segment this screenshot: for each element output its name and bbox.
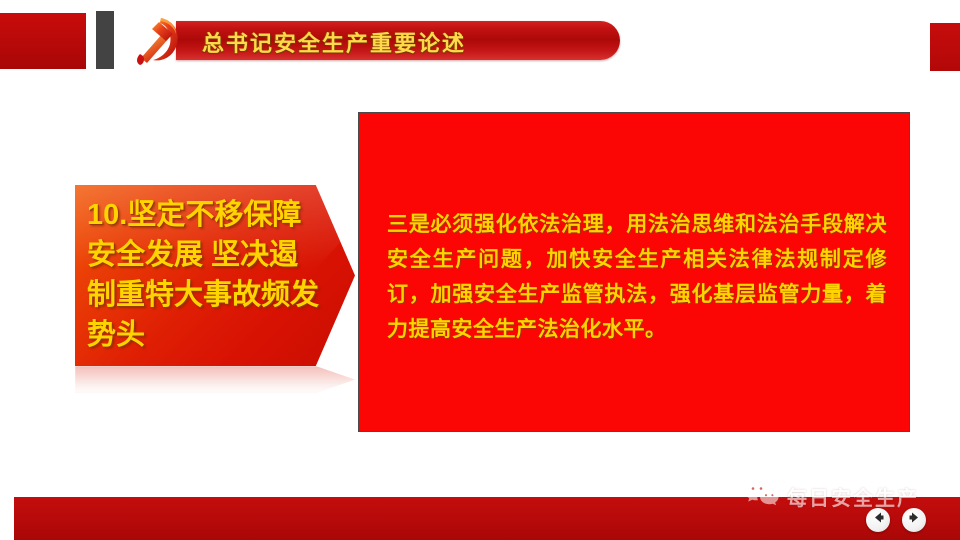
- footer-red-band: [0, 497, 960, 540]
- header-banner-title: 总书记安全生产重要论述: [202, 26, 466, 58]
- header-right-red-block: [930, 23, 960, 71]
- arrow-right-icon: [908, 511, 921, 529]
- header-left-red-block: [0, 13, 86, 69]
- party-emblem-hammer-sickle-icon: [131, 14, 185, 66]
- slide-canvas: 总书记安全生产重要论述 10.坚定不移保障安全发展 坚决遏制重特大事故频发势头 …: [0, 0, 960, 540]
- content-body-text: 三是必须强化依法治理，用法治思维和法治手段解决安全生产问题，加快安全生产相关法律…: [387, 207, 887, 347]
- slide-navigation: [866, 508, 926, 532]
- next-slide-button[interactable]: [902, 508, 926, 532]
- footer-left-notch: [0, 497, 14, 540]
- header-gray-divider-bar: [96, 11, 114, 69]
- section-title-reflection: [75, 366, 355, 406]
- section-title-arrow-box: 10.坚定不移保障安全发展 坚决遏制重特大事故频发势头: [75, 185, 355, 366]
- prev-slide-button[interactable]: [866, 508, 890, 532]
- content-panel: 三是必须强化依法治理，用法治思维和法治手段解决安全生产问题，加快安全生产相关法律…: [358, 112, 910, 432]
- arrow-left-icon: [872, 511, 885, 529]
- section-title-text: 10.坚定不移保障安全发展 坚决遏制重特大事故频发势头: [87, 195, 323, 355]
